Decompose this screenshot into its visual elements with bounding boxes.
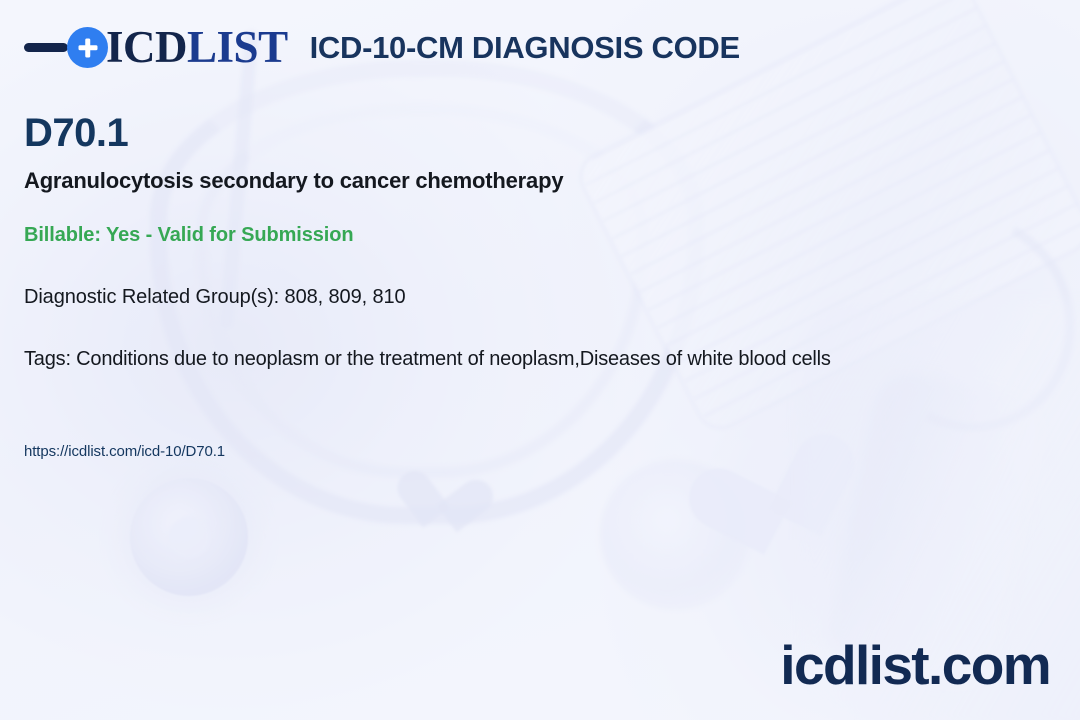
header-title: ICD-10-CM DIAGNOSIS CODE: [310, 30, 740, 66]
billable-status: Billable: Yes - Valid for Submission: [24, 224, 353, 247]
diagnosis-description: Agranulocytosis secondary to cancer chem…: [24, 168, 563, 194]
card-content: ICD LIST ICD-10-CM DIAGNOSIS CODE D70.1 …: [0, 0, 1080, 720]
diagnosis-code: D70.1: [24, 113, 128, 153]
logo-text-list: LIST: [187, 25, 288, 70]
tags-list: Tags: Conditions due to neoplasm or the …: [24, 348, 831, 371]
dash-icon: [24, 43, 68, 52]
plus-icon: [67, 27, 108, 68]
icd-code-card: ICD LIST ICD-10-CM DIAGNOSIS CODE D70.1 …: [0, 0, 1080, 720]
header: ICD LIST ICD-10-CM DIAGNOSIS CODE: [24, 25, 740, 70]
logo-text-icd: ICD: [106, 25, 187, 70]
drg-list: Diagnostic Related Group(s): 808, 809, 8…: [24, 286, 406, 309]
source-url[interactable]: https://icdlist.com/icd-10/D70.1: [24, 443, 225, 460]
icdlist-logo[interactable]: ICD LIST: [24, 25, 288, 70]
footer-brand: icdlist.com: [780, 638, 1050, 693]
